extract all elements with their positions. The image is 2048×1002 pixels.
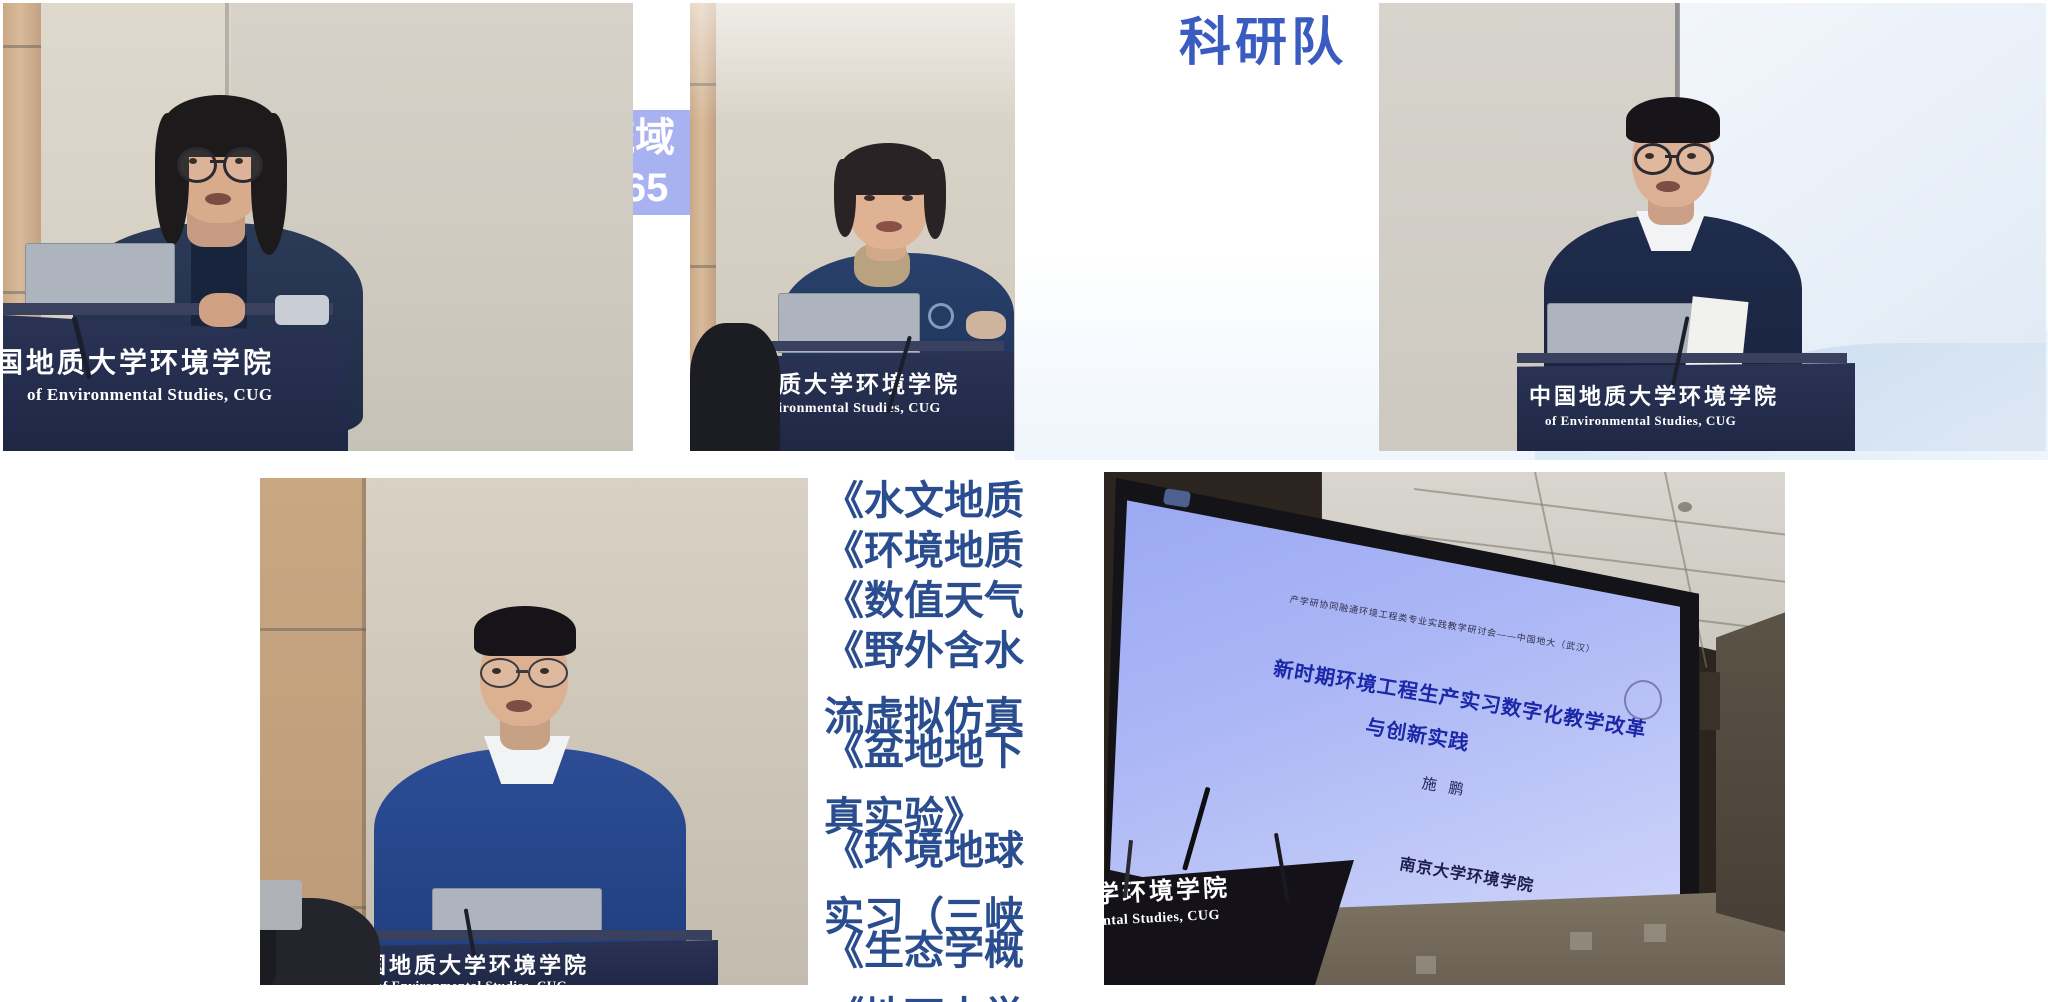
eye-left (864, 195, 875, 201)
podium-english-text: of Environmental Studies, CUG (1545, 413, 1736, 429)
glasses-lens-right (223, 147, 263, 183)
podium-edge (356, 930, 712, 940)
badge-line-1: 流域 (633, 115, 675, 161)
eye-right (902, 195, 913, 201)
glasses-lens-left (1634, 143, 1672, 175)
panel-photo-4: 国地质大学环境学院 of Environmental Studies, CUG (260, 478, 808, 985)
wall-plate (1416, 956, 1436, 974)
hand (966, 311, 1006, 339)
wall-seam-top (260, 628, 366, 631)
desk-object (275, 295, 329, 325)
lecture-hall-room: 产学研协同融通环境工程类专业实践教学研讨会——中国地大（武汉） 新时期环境工程生… (1104, 472, 1785, 985)
side-door (1716, 612, 1785, 932)
eye-right (540, 668, 549, 674)
wall-seam-bottom (690, 265, 716, 268)
podium-english-text: of Environmental Studies, CUG (376, 978, 567, 985)
jacket-logo (928, 303, 954, 329)
slide-heading-left: 科研队 (1179, 0, 1347, 75)
podium-chinese-text: 国地质大学环境学院 (3, 341, 274, 381)
hair-top (1626, 97, 1720, 143)
hair-right (251, 113, 287, 255)
mouth (1656, 181, 1680, 192)
hair-top (474, 606, 576, 656)
collage-stage: 流域 265 生态环境部长江 江流域生态环境 (0, 0, 2048, 1002)
mouth (506, 700, 532, 712)
podium (3, 315, 348, 451)
eye-right (1687, 153, 1696, 159)
wall-light-gradient (690, 3, 1015, 123)
podium-chinese-text: 国地质大学环境学院 (364, 948, 589, 980)
panel-photo-5: 产学研协同融通环境工程类专业实践教学研讨会——中国地大（武汉） 新时期环境工程生… (1104, 472, 1785, 985)
eye-right (235, 158, 243, 164)
panel-photo-2: 国地质大学环境学院 of Environmental Studies, CUG (690, 3, 1015, 451)
photo-female-speaker-left: 国地质大学环境学院 of Environmental Studies, CUG (3, 3, 633, 451)
wall-plate (1570, 932, 1592, 950)
list-text-wrap: 《地下水学 (824, 984, 1024, 1002)
mouth (205, 193, 231, 205)
photo-male-speaker-right: 中国地质大学环境学院 of Environmental Studies, CUG (1379, 3, 2046, 451)
wall-divider (362, 478, 366, 985)
audience-laptop (260, 880, 302, 930)
list-text: 《环境地球 (824, 818, 1024, 876)
podium-chinese-text: 中国地质大学环境学院 (1529, 379, 1779, 411)
glasses-bridge (210, 160, 224, 163)
mouth (876, 221, 902, 232)
badge-line-2: 265 (633, 165, 668, 211)
glasses-bridge (1665, 155, 1677, 158)
wall-plate (1644, 924, 1666, 942)
glasses-lens-left (480, 658, 520, 688)
eye-left (1645, 153, 1654, 159)
list-text: 《盆地地下 (824, 718, 1024, 776)
eye-left (492, 668, 501, 674)
hand (199, 293, 245, 327)
podium-edge (1517, 353, 1847, 363)
podium-english-text: of Environmental Studies, CUG (27, 385, 273, 405)
panel-photo-3: 中国地质大学环境学院 of Environmental Studies, CUG (1379, 3, 2046, 451)
wall-seam-top (3, 45, 41, 48)
smoke-detector-icon (1678, 502, 1692, 512)
glasses-bridge (516, 670, 528, 673)
laptop (1547, 303, 1699, 359)
eye-left (189, 158, 197, 164)
glasses-lens-right (1676, 143, 1714, 175)
photo-female-speaker-middle: 国地质大学环境学院 of Environmental Studies, CUG (690, 3, 1015, 451)
glasses-lens-left (177, 147, 217, 183)
audience-head-silhouette (690, 323, 780, 451)
list-text: 《生态学概 (824, 918, 1024, 976)
hair-right (924, 159, 946, 239)
panel-photo-1: 国地质大学环境学院 of Environmental Studies, CUG (3, 3, 633, 451)
hair-left (834, 159, 856, 237)
course-list-slide: 3 《水文地质 4 《环境地质 5 《数值天气 6 《野外含水 流虚拟仿真 7 … (770, 462, 1045, 1002)
glasses-lens-right (528, 658, 568, 688)
wall-speaker-icon (1700, 672, 1720, 730)
list-text: 《野外含水 (824, 618, 1024, 676)
photo-male-speaker-sweater: 国地质大学环境学院 of Environmental Studies, CUG (260, 478, 808, 985)
